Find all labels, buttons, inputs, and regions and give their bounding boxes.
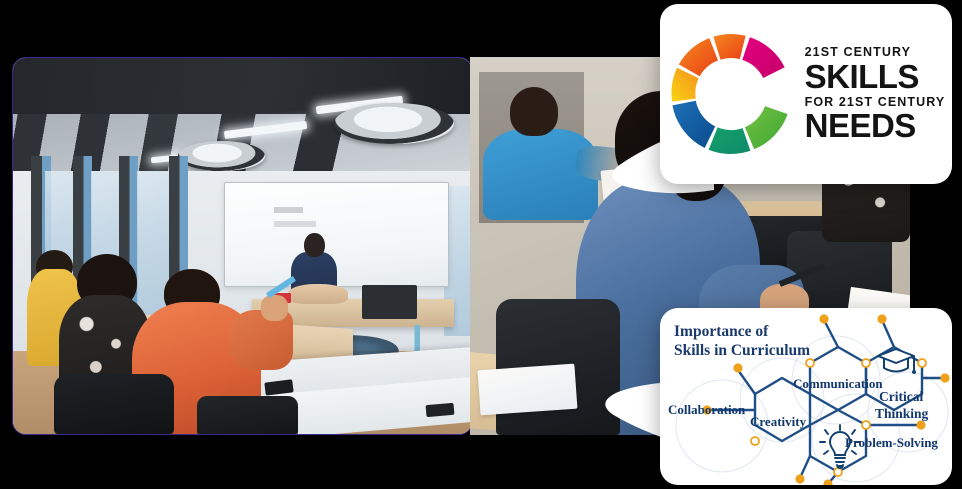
student-hand: [261, 295, 289, 321]
label-creativity: Creativity: [750, 414, 807, 429]
whiteboard: [224, 182, 449, 287]
label-problem-solving: Problem-Solving: [845, 435, 938, 450]
instructor-head: [304, 233, 324, 257]
graduation-cap-icon: [878, 349, 916, 374]
label-collaboration: Collaboration: [668, 402, 746, 417]
logo-line-4: NEEDS: [805, 109, 946, 142]
monitor: [362, 285, 417, 319]
training-manikin: [288, 284, 348, 305]
phone-on-desk: [426, 403, 454, 417]
label-communication: Communication: [793, 376, 883, 391]
office-chair: [197, 396, 298, 434]
diagram-title-line-2: Skills in Curriculum: [674, 341, 810, 360]
skills-logo-card[interactable]: 21ST CENTURY SKILLS FOR 21ST CENTURY NEE…: [660, 4, 952, 184]
air-vent-icon: [334, 103, 453, 144]
composition-stage: 21ST CENTURY SKILLS FOR 21ST CENTURY NEE…: [0, 0, 962, 489]
color-wheel-icon: [667, 30, 795, 158]
label-critical: Critical: [879, 389, 923, 404]
student-head: [510, 87, 558, 136]
open-notebook: [477, 364, 577, 416]
diagram-title-line-1: Importance of: [674, 322, 810, 341]
skills-curriculum-diagram-card[interactable]: Importance of Skills in Curriculum: [660, 308, 952, 485]
office-chair: [54, 374, 173, 434]
decor-circle: [740, 358, 824, 442]
diagram-title: Importance of Skills in Curriculum: [674, 322, 810, 361]
label-thinking: Thinking: [875, 406, 929, 421]
classroom-lecture-photo: [12, 57, 473, 435]
logo-line-2: SKILLS: [805, 60, 946, 93]
air-vent-icon: [178, 141, 265, 171]
logo-wordmark: 21ST CENTURY SKILLS FOR 21ST CENTURY NEE…: [805, 46, 946, 142]
logo-line-1: 21ST CENTURY: [805, 46, 946, 59]
